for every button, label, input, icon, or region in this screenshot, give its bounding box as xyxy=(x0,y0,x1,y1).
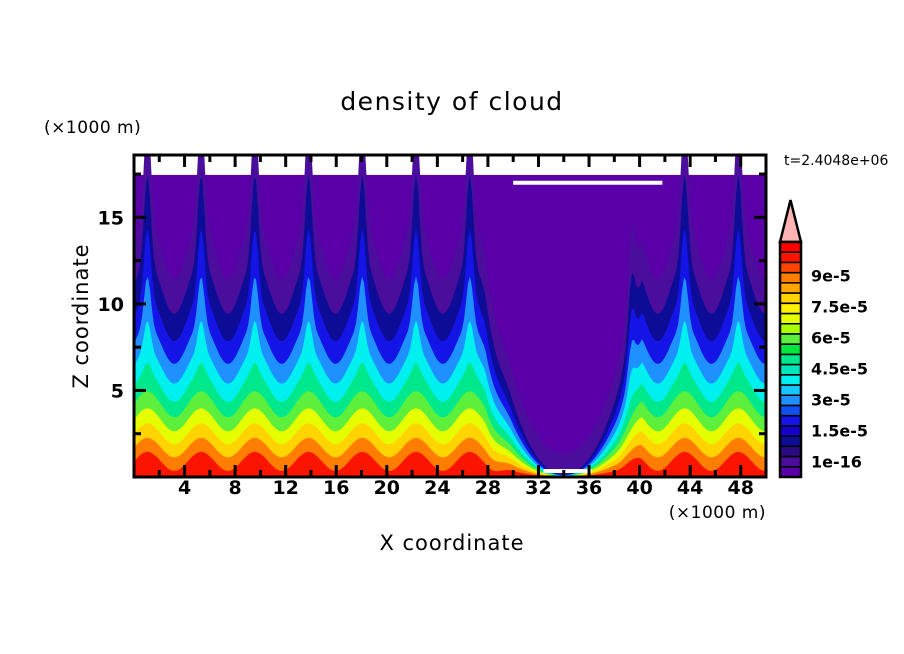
colorbar-label: 4.5e-5 xyxy=(811,360,868,379)
colorbar-swatch[interactable] xyxy=(780,344,801,355)
x-tick-label: 24 xyxy=(424,477,450,499)
y-tick-label: 10 xyxy=(98,294,124,316)
figure-canvas: density of cloud (×1000 m) t=2.4048e+06 … xyxy=(0,0,904,654)
colorbar-swatch[interactable] xyxy=(780,446,801,457)
colorbar-swatch[interactable] xyxy=(780,252,801,263)
x-tick-label: 28 xyxy=(475,477,501,499)
x-tick-label: 20 xyxy=(374,477,400,499)
y-tick-label: 15 xyxy=(98,207,124,229)
colorbar-swatch[interactable] xyxy=(780,426,801,437)
colorbar-swatch[interactable] xyxy=(780,416,801,427)
colorbar-swatch[interactable] xyxy=(780,262,801,273)
colorbar-label: 1.5e-5 xyxy=(811,422,868,441)
x-tick-label: 40 xyxy=(626,477,652,499)
colorbar-swatch[interactable] xyxy=(780,354,801,365)
colorbar-swatch[interactable] xyxy=(780,314,801,325)
colorbar-label: 3e-5 xyxy=(811,391,851,410)
page-title: density of cloud xyxy=(340,87,563,116)
colorbar-swatch[interactable] xyxy=(780,293,801,304)
x-tick-label: 16 xyxy=(323,477,349,499)
colorbar-swatch[interactable] xyxy=(780,395,801,406)
colorbar-swatch[interactable] xyxy=(780,334,801,345)
colorbar-swatch[interactable] xyxy=(780,324,801,335)
x-tick-label: 12 xyxy=(272,477,298,499)
colorbar-label: 6e-5 xyxy=(811,329,851,348)
x-tick-label: 4 xyxy=(178,477,191,499)
y-unit-label: (×1000 m) xyxy=(44,118,141,138)
colorbar-swatch[interactable] xyxy=(780,273,801,284)
colorbar-swatch[interactable] xyxy=(780,385,801,396)
colorbar-swatch[interactable] xyxy=(780,303,801,314)
colorbar-label: 7.5e-5 xyxy=(811,298,868,317)
x-tick-label: 36 xyxy=(576,477,602,499)
colorbar-swatch[interactable] xyxy=(780,375,801,386)
colorbar-swatch[interactable] xyxy=(780,365,801,376)
colorbar-swatch[interactable] xyxy=(780,436,801,447)
y-tick-label: 5 xyxy=(111,380,124,402)
colorbar-label: 9e-5 xyxy=(811,267,851,286)
y-axis-label: Z coordinate xyxy=(69,243,93,388)
contour-field xyxy=(134,113,766,477)
x-tick-label: 32 xyxy=(525,477,551,499)
contour-figure: density of cloud (×1000 m) t=2.4048e+06 … xyxy=(0,0,904,654)
x-unit-label: (×1000 m) xyxy=(669,503,766,523)
colorbar-label: 1e-16 xyxy=(811,453,862,472)
x-axis-label: X coordinate xyxy=(379,531,524,555)
colorbar-swatch[interactable] xyxy=(780,457,801,468)
colorbar-swatch[interactable] xyxy=(780,405,801,416)
colorbar-swatch[interactable] xyxy=(780,283,801,294)
colorbar[interactable] xyxy=(780,200,801,478)
x-tick-label: 44 xyxy=(677,477,703,499)
timestamp-label: t=2.4048e+06 xyxy=(784,153,888,169)
x-tick-label: 8 xyxy=(229,477,242,499)
x-tick-label: 48 xyxy=(727,477,753,499)
colorbar-swatch[interactable] xyxy=(780,242,801,253)
